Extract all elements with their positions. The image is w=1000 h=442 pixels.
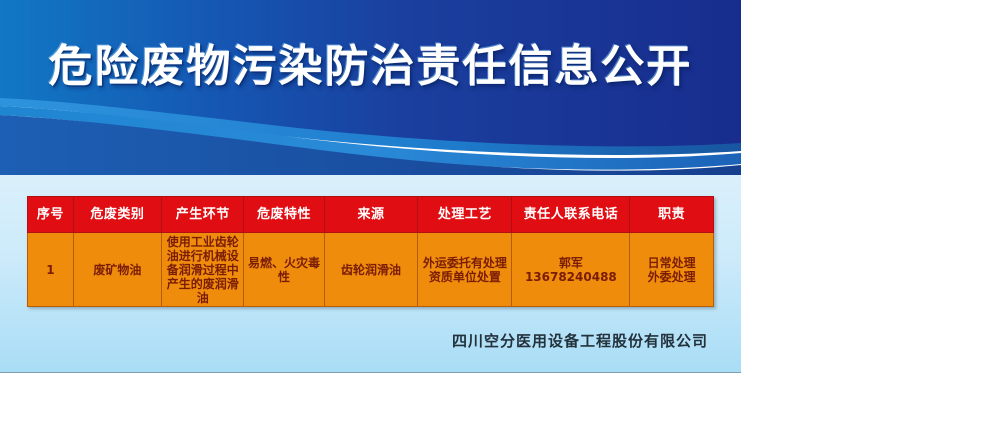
column-header-source: 来源: [324, 197, 418, 233]
cell-generation-stage: 使用工业齿轮油进行机械设备润滑过程中产生的废润滑油: [161, 233, 243, 307]
contact-phone-number: 13678240488: [514, 270, 627, 284]
poster-banner: 危险废物污染防治责任信息公开: [0, 0, 741, 175]
cell-duty: 日常处理 外委处理: [630, 233, 714, 307]
information-disclosure-poster: 危险废物污染防治责任信息公开 序号 危废类别: [0, 0, 741, 372]
column-header-stage: 产生环节: [161, 197, 243, 233]
cell-index: 1: [28, 233, 74, 307]
hazardous-waste-table: 序号 危废类别 产生环节 危废特性 来源 处理工艺 责任人联系电话 职责 1 废…: [27, 196, 714, 307]
column-header-category: 危废类别: [73, 197, 161, 233]
table-row: 1 废矿物油 使用工业齿轮油进行机械设备润滑过程中产生的废润滑油 易燃、火灾毒性…: [28, 233, 714, 307]
contact-person-name: 郭军: [514, 256, 627, 270]
cell-source: 齿轮润滑油: [324, 233, 418, 307]
column-header-treatment: 处理工艺: [418, 197, 512, 233]
column-header-index: 序号: [28, 197, 74, 233]
hazardous-waste-table-container: 序号 危废类别 产生环节 危废特性 来源 处理工艺 责任人联系电话 职责 1 废…: [27, 196, 714, 307]
company-name: 四川空分医用设备工程股份有限公司: [27, 330, 714, 351]
screenshot-canvas: 危险废物污染防治责任信息公开 序号 危废类别: [0, 0, 1000, 442]
duty-line-2: 外委处理: [632, 270, 711, 284]
cell-contact: 郭军 13678240488: [512, 233, 630, 307]
column-header-duty: 职责: [630, 197, 714, 233]
cell-category: 废矿物油: [73, 233, 161, 307]
column-header-property: 危废特性: [244, 197, 324, 233]
cell-treatment-process: 外运委托有处理资质单位处置: [418, 233, 512, 307]
table-header-row: 序号 危废类别 产生环节 危废特性 来源 处理工艺 责任人联系电话 职责: [28, 197, 714, 233]
page-title: 危险废物污染防治责任信息公开: [0, 38, 741, 96]
cell-hazard-property: 易燃、火灾毒性: [244, 233, 324, 307]
duty-line-1: 日常处理: [632, 256, 711, 270]
column-header-contact: 责任人联系电话: [512, 197, 630, 233]
